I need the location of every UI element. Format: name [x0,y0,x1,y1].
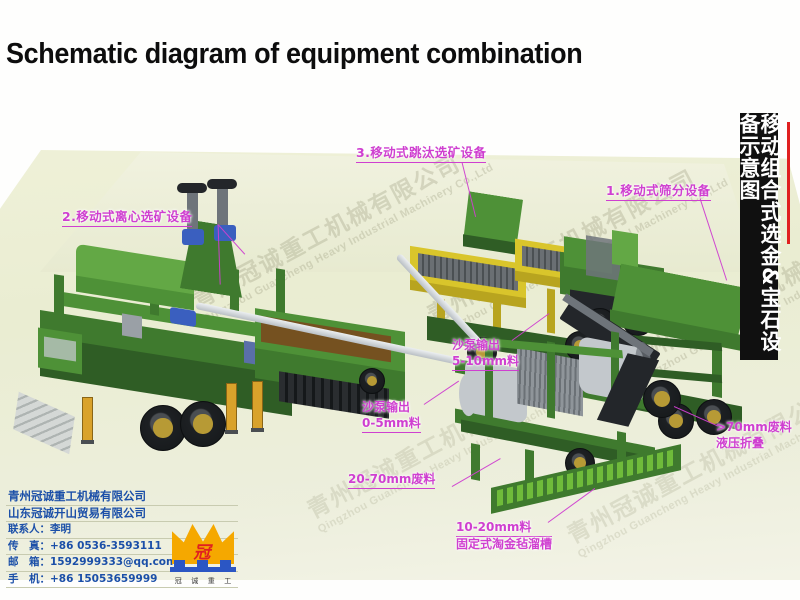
callout-equipment-1[interactable]: 1.移动式筛分设备 [606,180,711,201]
label-sluice-10-20mm[interactable]: 10-20mm料 固定式淘金毡溜槽 [456,520,552,553]
label-pump-output-5-10mm[interactable]: 沙泵输出 5-10mm料 [452,338,519,371]
label-waste-over-70mm[interactable]: >70mm废料 液压折叠 [716,420,792,452]
logo-base-bar [170,567,236,572]
callout-equipment-3[interactable]: 3.移动式跳汰选矿设备 [356,142,486,163]
company-name-primary: 青州冠诚重工机械有限公司 [6,489,238,506]
vertical-title-text: 移动组合式选金&宝石设备示意图 [738,113,780,360]
callout-equipment-2[interactable]: 2.移动式离心选矿设备 [62,206,192,227]
company-info-card: 青州冠诚重工机械有限公司 山东冠诚开山贸易有限公司 联系人：李明 传 真：+86… [6,489,238,588]
company-logo: 冠 冠 诚 重 工 [164,524,240,586]
label-pump-output-0-5mm[interactable]: 沙泵输出 0-5mm料 [362,400,421,433]
schematic-canvas: Schematic diagram of equipment combinati… [0,0,800,600]
page-title: Schematic diagram of equipment combinati… [6,38,582,71]
banner-red-rule [787,122,790,244]
pump-motor [182,229,204,245]
label-waste-20-70mm[interactable]: 20-70mm废料 [348,472,435,489]
vertical-title-banner: 移动组合式选金&宝石设备示意图 [740,113,778,360]
company-name-secondary: 山东冠诚开山贸易有限公司 [6,506,238,523]
logo-subtitle: 冠 诚 重 工 [170,576,236,586]
